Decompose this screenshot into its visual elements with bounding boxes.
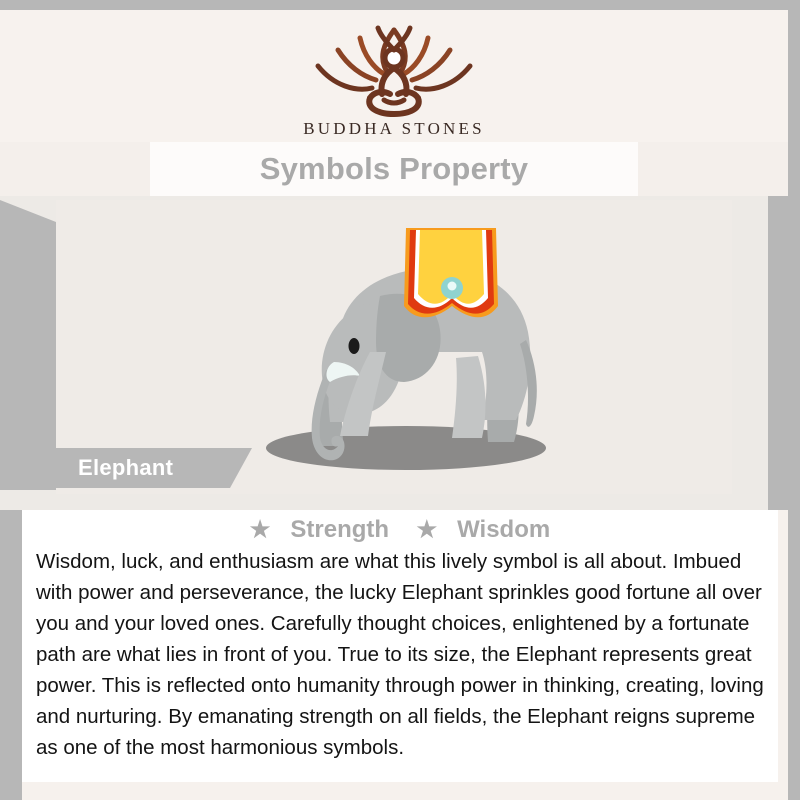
header: BUDDHA STONES bbox=[0, 10, 788, 142]
symbol-property-card: BUDDHA STONES Symbols Property bbox=[0, 0, 800, 800]
frame-right-border bbox=[788, 0, 800, 800]
trait-star-strength-icon: ★ bbox=[250, 516, 271, 542]
brand-name: BUDDHA STONES bbox=[0, 119, 788, 139]
description-area: ★ Strength ★ Wisdom Wisdom, luck, and en… bbox=[22, 510, 778, 782]
bottom-strip bbox=[22, 782, 778, 800]
trait-list: ★ Strength ★ Wisdom bbox=[22, 516, 778, 544]
elephant-saddle bbox=[404, 228, 498, 317]
elephant-eye bbox=[349, 338, 360, 354]
trait-label-strength: Strength bbox=[290, 516, 389, 543]
trait-star-wisdom-icon: ★ bbox=[416, 516, 437, 542]
symbol-name-banner: Elephant bbox=[0, 448, 252, 488]
elephant-illustration bbox=[220, 210, 580, 490]
brand-logo: BUDDHA STONES bbox=[0, 14, 788, 139]
symbol-description: Wisdom, luck, and enthusiasm are what th… bbox=[36, 546, 764, 763]
right-accent-bar bbox=[768, 196, 788, 510]
frame-left-bottom-border bbox=[0, 490, 22, 800]
page-title: Symbols Property bbox=[260, 151, 529, 187]
symbol-name-label: Elephant bbox=[78, 455, 173, 481]
title-band: Symbols Property bbox=[150, 142, 638, 196]
frame-top-border bbox=[0, 0, 800, 10]
left-accent-bar bbox=[0, 200, 56, 490]
lotus-meditation-figure-icon bbox=[304, 14, 484, 118]
trait-label-wisdom: Wisdom bbox=[457, 516, 550, 543]
